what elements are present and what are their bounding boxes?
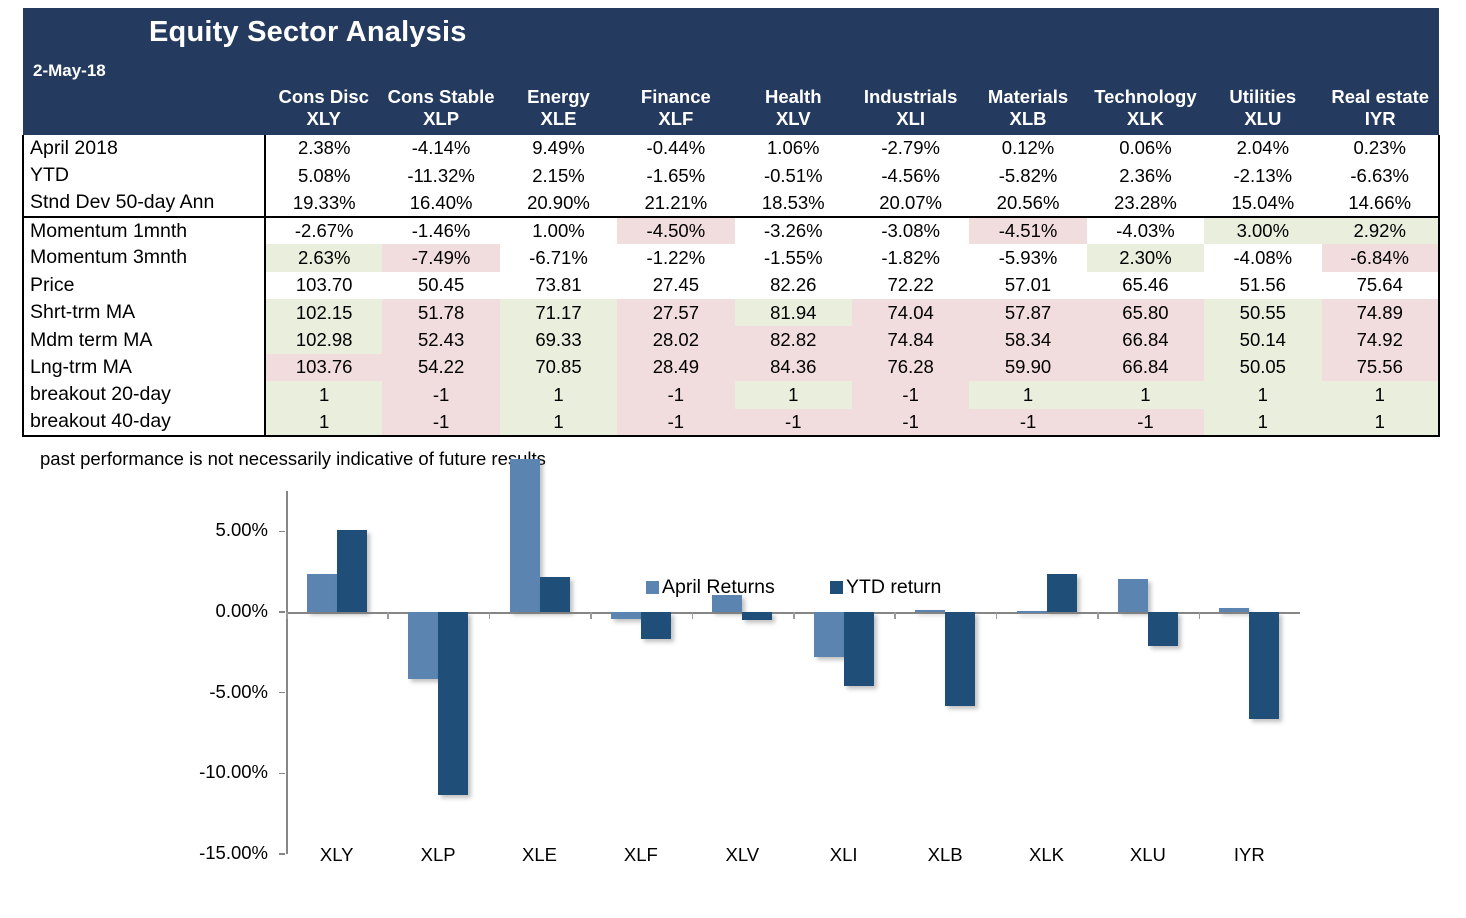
column-ticker: XLU (1204, 108, 1321, 130)
column-ticker: XLP (382, 108, 499, 130)
cell-xlb: 20.56% (969, 189, 1086, 216)
cell-xli: 20.07% (852, 189, 969, 216)
legend-label: YTD return (846, 576, 941, 598)
cell-xlp: -7.49% (382, 244, 499, 271)
x-tickmark (793, 612, 795, 619)
column-sector-name: Finance (617, 86, 734, 108)
column-sector-name: Real estate (1322, 86, 1439, 108)
cell-xly: 5.08% (265, 162, 382, 189)
cell-xlf: -1 (617, 409, 734, 436)
column-sector-name: Utilities (1204, 86, 1321, 108)
x-axis-tick-label: XLV (697, 844, 787, 866)
cell-xlu: 2.04% (1204, 135, 1321, 162)
cell-iyr: 1 (1322, 381, 1439, 408)
cell-xlb: -1 (969, 409, 1086, 436)
y-axis-tick-label: -15.00% (158, 842, 268, 864)
column-header-xly: Cons DiscXLY (265, 86, 382, 135)
cell-xle: 1 (500, 409, 617, 436)
cell-xlp: 16.40% (382, 189, 499, 216)
cell-xlv: 18.53% (735, 189, 852, 216)
legend-label: April Returns (662, 576, 775, 598)
bar-xle-april (510, 459, 540, 612)
cell-iyr: 74.89 (1322, 299, 1439, 326)
cell-xly: 103.76 (265, 354, 382, 381)
y-tickmark (279, 692, 285, 694)
x-tickmark (286, 612, 288, 619)
bar-xlu-ytd (1148, 612, 1178, 646)
table-row: Momentum 3mnth2.63%-7.49%-6.71%-1.22%-1.… (23, 244, 1439, 271)
cell-xly: 103.70 (265, 272, 382, 299)
bar-xlf-april (611, 612, 641, 619)
table-row: Price103.7050.4573.8127.4582.2672.2257.0… (23, 272, 1439, 299)
cell-xli: -1 (852, 409, 969, 436)
cell-xli: -1 (852, 381, 969, 408)
cell-xlb: 58.34 (969, 326, 1086, 353)
cell-xlp: -11.32% (382, 162, 499, 189)
cell-xli: -1.82% (852, 244, 969, 271)
cell-xlb: -4.51% (969, 217, 1086, 244)
bar-xli-april (814, 612, 844, 657)
cell-xlf: 27.45 (617, 272, 734, 299)
cell-xli: 74.84 (852, 326, 969, 353)
cell-xlk: 0.06% (1087, 135, 1204, 162)
cell-iyr: 75.64 (1322, 272, 1439, 299)
row-label: April 2018 (23, 135, 265, 162)
x-axis-tick-label: XLI (799, 844, 889, 866)
cell-xli: -2.79% (852, 135, 969, 162)
cell-xlk: -4.03% (1087, 217, 1204, 244)
disclaimer-text: past performance is not necessarily indi… (40, 448, 546, 470)
x-tickmark (1199, 612, 1201, 619)
y-axis-tick-label: -5.00% (158, 681, 268, 703)
cell-xle: 69.33 (500, 326, 617, 353)
y-tickmark (279, 611, 285, 613)
bar-xly-ytd (337, 530, 367, 612)
cell-xlk: 65.80 (1087, 299, 1204, 326)
cell-xle: 71.17 (500, 299, 617, 326)
table-row: breakout 20-day1-11-11-11111 (23, 381, 1439, 408)
cell-xlk: 66.84 (1087, 354, 1204, 381)
cell-xlv: 1.06% (735, 135, 852, 162)
chart-y-axis (286, 491, 288, 854)
legend-item-2: YTD return (830, 576, 941, 599)
cell-xlv: -0.51% (735, 162, 852, 189)
cell-xlf: -1.22% (617, 244, 734, 271)
cell-iyr: 75.56 (1322, 354, 1439, 381)
cell-xly: -2.67% (265, 217, 382, 244)
cell-xlf: -1 (617, 381, 734, 408)
cell-xle: 73.81 (500, 272, 617, 299)
row-label: breakout 40-day (23, 409, 265, 436)
x-tickmark (1097, 612, 1099, 619)
x-tickmark (489, 612, 491, 619)
cell-xlu: 51.56 (1204, 272, 1321, 299)
cell-xlk: 2.30% (1087, 244, 1204, 271)
bar-xlk-ytd (1047, 574, 1077, 612)
cell-xlb: -5.82% (969, 162, 1086, 189)
bar-xle-ytd (540, 577, 570, 612)
cell-xli: 74.04 (852, 299, 969, 326)
cell-xlp: 52.43 (382, 326, 499, 353)
bar-xlk-april (1017, 611, 1047, 613)
cell-xlu: 15.04% (1204, 189, 1321, 216)
table-row: YTD5.08%-11.32%2.15%-1.65%-0.51%-4.56%-5… (23, 162, 1439, 189)
cell-xlf: -1.65% (617, 162, 734, 189)
cell-xlv: 84.36 (735, 354, 852, 381)
bar-xlp-ytd (438, 612, 468, 795)
cell-xlv: 81.94 (735, 299, 852, 326)
cell-xlk: 65.46 (1087, 272, 1204, 299)
equity-sector-table: Equity Sector Analysis 2-May-18 Cons Dis… (22, 8, 1440, 437)
cell-xly: 19.33% (265, 189, 382, 216)
cell-xlu: 1 (1204, 381, 1321, 408)
column-header-row: Cons DiscXLYCons StableXLPEnergyXLEFinan… (23, 86, 1439, 135)
column-ticker: XLY (265, 108, 382, 130)
cell-xlf: -0.44% (617, 135, 734, 162)
report-date: 2-May-18 (23, 56, 1439, 86)
column-header-xlf: FinanceXLF (617, 86, 734, 135)
cell-xlp: -1 (382, 409, 499, 436)
cell-xli: -3.08% (852, 217, 969, 244)
x-axis-tick-label: XLY (292, 844, 382, 866)
bar-xlp-april (408, 612, 438, 679)
corner-cell (23, 86, 265, 135)
column-sector-name: Health (735, 86, 852, 108)
cell-xlf: 28.49 (617, 354, 734, 381)
column-header-xlk: TechnologyXLK (1087, 86, 1204, 135)
cell-xlk: 2.36% (1087, 162, 1204, 189)
cell-xlv: -3.26% (735, 217, 852, 244)
row-label: Stnd Dev 50-day Ann (23, 189, 265, 216)
x-tickmark (387, 612, 389, 619)
bar-xlf-ytd (641, 612, 671, 639)
column-sector-name: Industrials (852, 86, 969, 108)
cell-iyr: -6.84% (1322, 244, 1439, 271)
cell-xlb: -5.93% (969, 244, 1086, 271)
table-row: Stnd Dev 50-day Ann19.33%16.40%20.90%21.… (23, 189, 1439, 216)
bar-xlb-april (915, 610, 945, 612)
cell-xlu: 50.14 (1204, 326, 1321, 353)
cell-xly: 102.15 (265, 299, 382, 326)
row-label: Shrt-trm MA (23, 299, 265, 326)
cell-xlp: 54.22 (382, 354, 499, 381)
cell-xle: 70.85 (500, 354, 617, 381)
cell-xle: 1 (500, 381, 617, 408)
cell-xlu: -2.13% (1204, 162, 1321, 189)
table-date-row: 2-May-18 (23, 56, 1439, 86)
cell-xlu: 50.55 (1204, 299, 1321, 326)
row-label: Price (23, 272, 265, 299)
cell-iyr: 14.66% (1322, 189, 1439, 216)
cell-xlk: -1 (1087, 409, 1204, 436)
table-row: breakout 40-day1-11-1-1-1-1-111 (23, 409, 1439, 436)
row-label: Lng-trm MA (23, 354, 265, 381)
table-row: Mdm term MA102.9852.4369.3328.0282.8274.… (23, 326, 1439, 353)
cell-xly: 1 (265, 409, 382, 436)
cell-xlk: 66.84 (1087, 326, 1204, 353)
page-title: Equity Sector Analysis (23, 8, 1439, 56)
column-ticker: XLK (1087, 108, 1204, 130)
x-tickmark (894, 612, 896, 619)
cell-xlp: 51.78 (382, 299, 499, 326)
row-label: Momentum 3mnth (23, 244, 265, 271)
legend-swatch (646, 581, 659, 594)
table-row: Momentum 1mnth-2.67%-1.46%1.00%-4.50%-3.… (23, 217, 1439, 244)
bar-iyr-ytd (1249, 612, 1279, 719)
table-row: Lng-trm MA103.7654.2270.8528.4984.3676.2… (23, 354, 1439, 381)
column-sector-name: Cons Disc (265, 86, 382, 108)
row-label: breakout 20-day (23, 381, 265, 408)
y-tickmark (279, 773, 285, 775)
column-sector-name: Technology (1087, 86, 1204, 108)
legend-swatch (830, 581, 843, 594)
cell-iyr: 2.92% (1322, 217, 1439, 244)
cell-xlp: -4.14% (382, 135, 499, 162)
cell-xlk: 23.28% (1087, 189, 1204, 216)
cell-xlp: 50.45 (382, 272, 499, 299)
column-header-xli: IndustrialsXLI (852, 86, 969, 135)
x-axis-tick-label: XLU (1103, 844, 1193, 866)
column-header-xlb: MaterialsXLB (969, 86, 1086, 135)
cell-xlp: -1.46% (382, 217, 499, 244)
column-ticker: IYR (1322, 108, 1439, 130)
column-header-iyr: Real estateIYR (1322, 86, 1439, 135)
column-ticker: XLB (969, 108, 1086, 130)
cell-xlv: 82.82 (735, 326, 852, 353)
column-header-xlp: Cons StableXLP (382, 86, 499, 135)
y-tickmark (279, 853, 285, 855)
cell-xly: 2.63% (265, 244, 382, 271)
cell-xli: 76.28 (852, 354, 969, 381)
column-header-xlu: UtilitiesXLU (1204, 86, 1321, 135)
cell-xlp: -1 (382, 381, 499, 408)
bar-xli-ytd (844, 612, 874, 686)
cell-xlv: -1 (735, 409, 852, 436)
column-header-xle: EnergyXLE (500, 86, 617, 135)
column-header-xlv: HealthXLV (735, 86, 852, 135)
cell-xle: 1.00% (500, 217, 617, 244)
cell-xle: -6.71% (500, 244, 617, 271)
returns-bar-chart: 5.00%0.00%-5.00%-10.00%-15.00%XLYXLPXLEX… (0, 486, 1466, 918)
cell-xlf: 21.21% (617, 189, 734, 216)
cell-iyr: 74.92 (1322, 326, 1439, 353)
cell-xlb: 57.01 (969, 272, 1086, 299)
row-label: Momentum 1mnth (23, 217, 265, 244)
cell-xle: 2.15% (500, 162, 617, 189)
y-axis-tick-label: -10.00% (158, 761, 268, 783)
column-ticker: XLV (735, 108, 852, 130)
x-axis-tick-label: IYR (1204, 844, 1294, 866)
y-axis-tick-label: 0.00% (158, 600, 268, 622)
cell-xlu: 50.05 (1204, 354, 1321, 381)
cell-xlb: 57.87 (969, 299, 1086, 326)
cell-iyr: 1 (1322, 409, 1439, 436)
cell-xlf: -4.50% (617, 217, 734, 244)
cell-iyr: 0.23% (1322, 135, 1439, 162)
x-tickmark (996, 612, 998, 619)
bar-xlv-ytd (742, 612, 772, 620)
x-axis-tick-label: XLE (495, 844, 585, 866)
cell-xlb: 0.12% (969, 135, 1086, 162)
row-label: YTD (23, 162, 265, 189)
cell-xly: 1 (265, 381, 382, 408)
x-axis-tick-label: XLF (596, 844, 686, 866)
cell-xlf: 28.02 (617, 326, 734, 353)
cell-xlv: 1 (735, 381, 852, 408)
cell-xle: 9.49% (500, 135, 617, 162)
legend-item-1: April Returns (646, 576, 775, 599)
bar-xlb-ytd (945, 612, 975, 706)
bar-xlu-april (1118, 579, 1148, 612)
x-tickmark (692, 612, 694, 619)
y-axis-tick-label: 5.00% (158, 519, 268, 541)
column-ticker: XLF (617, 108, 734, 130)
cell-xlb: 1 (969, 381, 1086, 408)
cell-xlu: 1 (1204, 409, 1321, 436)
cell-xlv: -1.55% (735, 244, 852, 271)
bar-xly-april (307, 574, 337, 612)
cell-xli: -4.56% (852, 162, 969, 189)
cell-xlu: -4.08% (1204, 244, 1321, 271)
cell-xlb: 59.90 (969, 354, 1086, 381)
cell-xlk: 1 (1087, 381, 1204, 408)
cell-xle: 20.90% (500, 189, 617, 216)
y-tickmark (279, 531, 285, 533)
cell-xlu: 3.00% (1204, 217, 1321, 244)
cell-xly: 102.98 (265, 326, 382, 353)
table-row: April 20182.38%-4.14%9.49%-0.44%1.06%-2.… (23, 135, 1439, 162)
cell-xli: 72.22 (852, 272, 969, 299)
column-sector-name: Energy (500, 86, 617, 108)
column-sector-name: Materials (969, 86, 1086, 108)
table-title-row: Equity Sector Analysis (23, 8, 1439, 56)
row-label: Mdm term MA (23, 326, 265, 353)
column-sector-name: Cons Stable (382, 86, 499, 108)
cell-xlf: 27.57 (617, 299, 734, 326)
column-ticker: XLI (852, 108, 969, 130)
x-axis-tick-label: XLK (1002, 844, 1092, 866)
column-ticker: XLE (500, 108, 617, 130)
x-tickmark (590, 612, 592, 619)
x-axis-tick-label: XLP (393, 844, 483, 866)
cell-xlv: 82.26 (735, 272, 852, 299)
table-row: Shrt-trm MA102.1551.7871.1727.5781.9474.… (23, 299, 1439, 326)
bar-iyr-april (1219, 608, 1249, 612)
x-axis-tick-label: XLB (900, 844, 990, 866)
cell-xly: 2.38% (265, 135, 382, 162)
cell-iyr: -6.63% (1322, 162, 1439, 189)
